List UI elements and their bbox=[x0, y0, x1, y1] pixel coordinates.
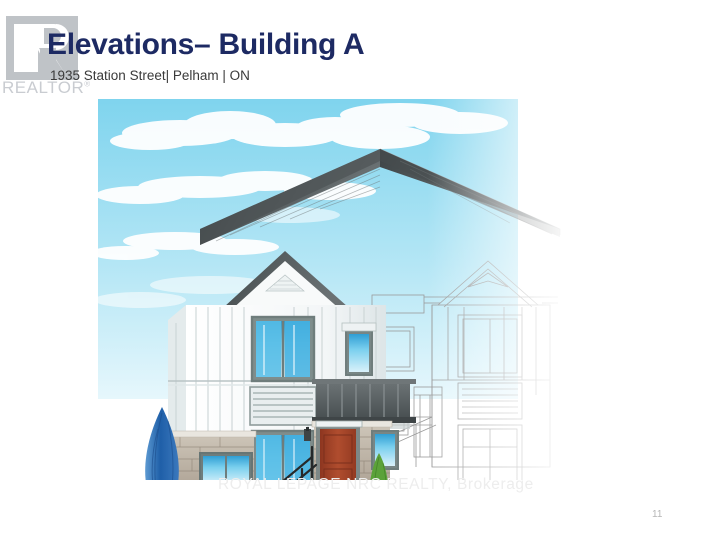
elevation-rendering bbox=[80, 95, 640, 480]
page-subtitle: 1935 Station Street| Pelham | ON bbox=[50, 68, 250, 83]
page-number: 11 bbox=[652, 509, 662, 520]
slide: REALTOR® Elevations– Building A 1935 Sta… bbox=[0, 0, 720, 540]
page-title: Elevations– Building A bbox=[47, 28, 364, 61]
